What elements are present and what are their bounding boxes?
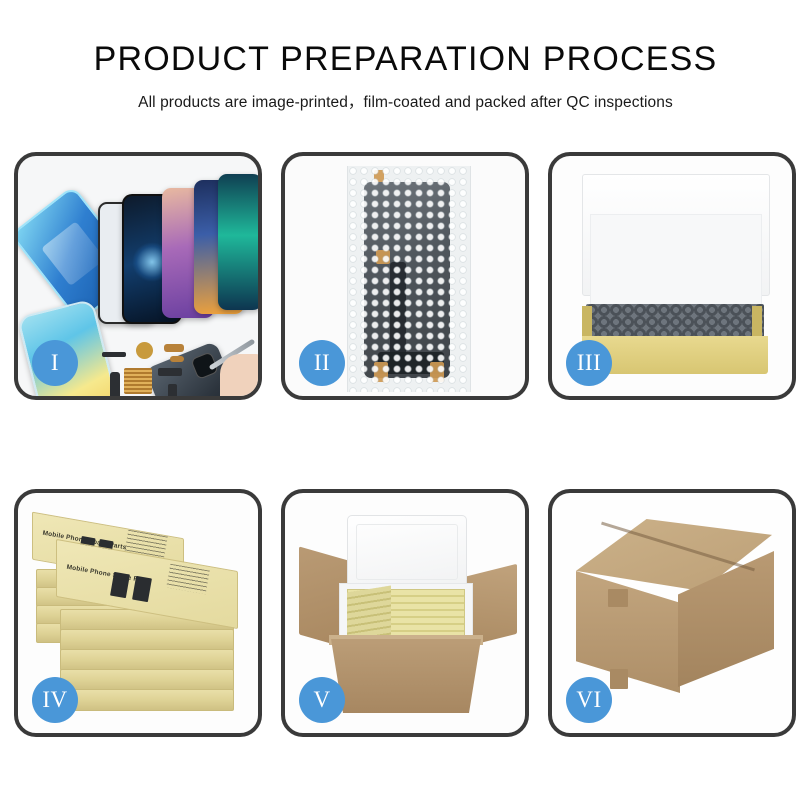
process-step-grid: I II III bbox=[14, 152, 797, 737]
carton-tape-lower bbox=[610, 669, 628, 689]
step-badge-3: III bbox=[566, 340, 612, 386]
process-step-card-4: Mobile Phone Spare Parts Mobile Phone Sp… bbox=[14, 489, 262, 737]
packed-yellow-boxes-angled bbox=[347, 586, 391, 643]
step-badge-6: VI bbox=[566, 677, 612, 723]
process-step-card-3: III bbox=[548, 152, 796, 400]
foam-lid bbox=[347, 515, 467, 589]
bubble-texture bbox=[348, 166, 470, 392]
process-step-card-1: I bbox=[14, 152, 262, 400]
step-badge-2: II bbox=[299, 340, 345, 386]
process-step-card-2: II bbox=[281, 152, 529, 400]
spare-part-flex-cable-small bbox=[170, 356, 184, 362]
bubble-wrap-contents bbox=[586, 304, 764, 338]
spare-part-ribbon bbox=[110, 372, 120, 396]
step-badge-1: I bbox=[32, 340, 78, 386]
stacked-box-right-4 bbox=[60, 649, 234, 671]
process-step-card-5: V bbox=[281, 489, 529, 737]
page-subtitle: All products are image-printed，film-coat… bbox=[0, 90, 811, 112]
carton-left-face bbox=[576, 571, 680, 693]
foam-sheet bbox=[590, 214, 762, 312]
spare-part-connector bbox=[102, 352, 126, 357]
step-badge-5: V bbox=[299, 677, 345, 723]
spare-part-screw-tray bbox=[124, 368, 152, 394]
bubble-wrap-bag bbox=[347, 166, 471, 392]
stacked-box-right-3 bbox=[60, 629, 234, 651]
spare-part-bracket bbox=[158, 368, 182, 376]
spare-part-battery-connector bbox=[168, 384, 177, 396]
spare-part-flex-cable bbox=[164, 344, 184, 352]
technician-hand bbox=[220, 354, 258, 396]
spare-part-speaker bbox=[136, 342, 153, 359]
page-title: PRODUCT PREPARATION PROCESS bbox=[0, 42, 811, 76]
carton-body bbox=[331, 639, 481, 713]
stacked-box-right-6 bbox=[60, 689, 234, 711]
process-step-card-6: VI bbox=[548, 489, 796, 737]
stacked-box-right-5 bbox=[60, 669, 234, 691]
carton-tape-upper bbox=[608, 589, 628, 607]
step-badge-4: IV bbox=[32, 677, 78, 723]
phone-display-teal bbox=[218, 174, 258, 310]
header: PRODUCT PREPARATION PROCESS All products… bbox=[0, 0, 811, 112]
